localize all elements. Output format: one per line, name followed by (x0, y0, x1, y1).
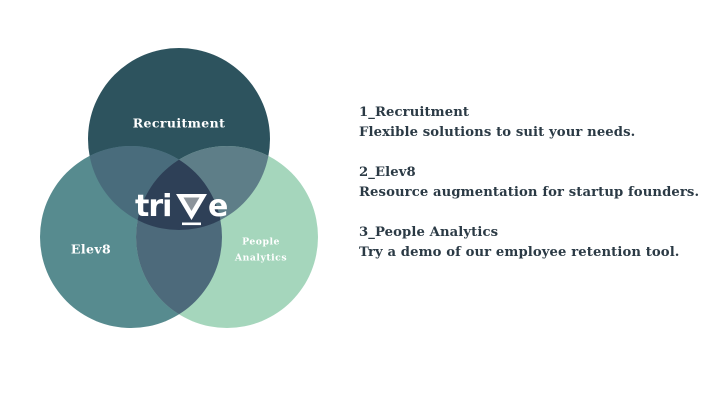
copy-panel: 1_Recruitment Flexible solutions to suit… (359, 103, 689, 264)
slide-canvas: Recruitment Elev8 People Analytics tri e… (0, 0, 720, 405)
copy-heading-people-analytics: 3_People Analytics (359, 223, 689, 243)
copy-heading-elev8: 2_Elev8 (359, 163, 689, 183)
venn-label-recruitment: Recruitment (133, 116, 226, 131)
copy-block-elev8: 2_Elev8 Resource augmentation for startu… (359, 163, 689, 204)
trive-logo-text-e: e (208, 189, 227, 224)
copy-body-people-analytics: Try a demo of our employee retention too… (359, 243, 689, 263)
copy-body-recruitment: Flexible solutions to suit your needs. (359, 123, 689, 143)
venn-diagram: Recruitment Elev8 People Analytics tri e (30, 30, 340, 350)
copy-heading-recruitment: 1_Recruitment (359, 103, 689, 123)
copy-block-people-analytics: 3_People Analytics Try a demo of our emp… (359, 223, 689, 264)
venn-label-elev8: Elev8 (71, 242, 111, 257)
venn-label-people-analytics-line2: Analytics (234, 253, 287, 264)
copy-block-recruitment: 1_Recruitment Flexible solutions to suit… (359, 103, 689, 144)
trive-logo-text-tri: tri (135, 189, 171, 224)
venn-diagram-svg: Recruitment Elev8 People Analytics tri e (30, 30, 340, 350)
copy-body-elev8: Resource augmentation for startup founde… (359, 183, 689, 203)
venn-label-people-analytics-line1: People (242, 237, 280, 248)
